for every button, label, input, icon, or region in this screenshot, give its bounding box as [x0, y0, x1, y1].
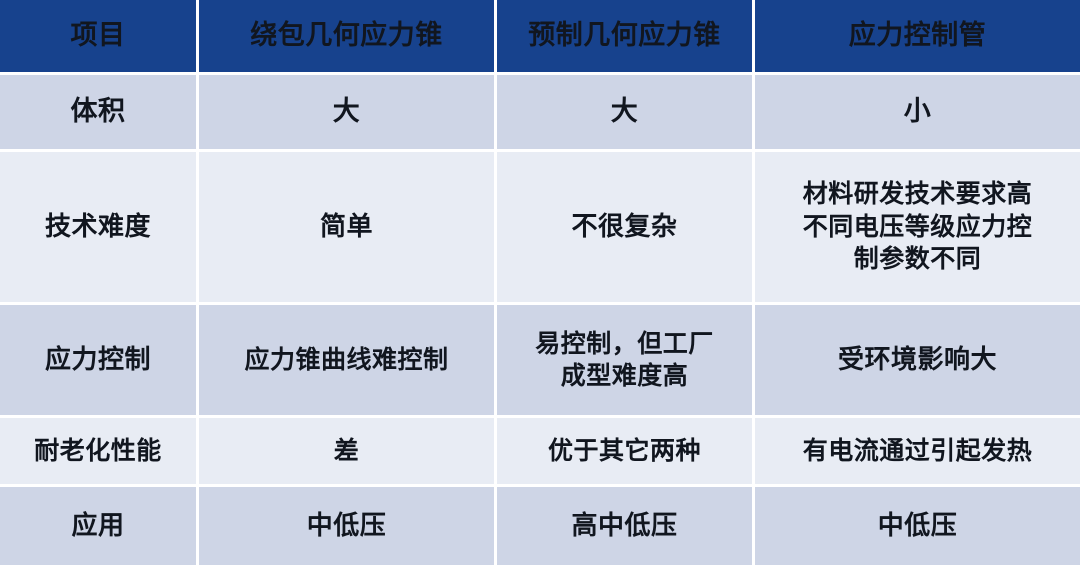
row-label: 耐老化性能 — [0, 418, 199, 487]
table-cell: 小 — [755, 75, 1080, 152]
table-cell: 不很复杂 — [497, 152, 755, 305]
row-label: 技术难度 — [0, 152, 199, 305]
table-cell-line: 易控制，但工厂 — [503, 328, 746, 361]
table-cell: 优于其它两种 — [497, 418, 755, 487]
table-cell: 简单 — [199, 152, 497, 305]
column-header-stress-control-tube: 应力控制管 — [755, 0, 1080, 75]
table-cell-line: 不同电压等级应力控 — [761, 211, 1074, 244]
table-cell-line: 制参数不同 — [761, 243, 1074, 276]
table-cell-line: 成型难度高 — [503, 360, 746, 393]
table-row: 应用 中低压 高中低压 中低压 — [0, 487, 1080, 565]
table-row: 体积 大 大 小 — [0, 75, 1080, 152]
row-label: 应用 — [0, 487, 199, 565]
column-header-item: 项目 — [0, 0, 199, 75]
table-body: 体积 大 大 小 技术难度 简单 不很复杂 材料研发技术要求高 不同电压等级应力… — [0, 75, 1080, 565]
stress-control-comparison-table: 项目 绕包几何应力锥 预制几何应力锥 应力控制管 体积 大 大 小 技术难度 简… — [0, 0, 1080, 565]
table-row: 应力控制 应力锥曲线难控制 易控制，但工厂 成型难度高 受环境影响大 — [0, 305, 1080, 418]
table-cell: 材料研发技术要求高 不同电压等级应力控 制参数不同 — [755, 152, 1080, 305]
table-cell: 差 — [199, 418, 497, 487]
row-label: 体积 — [0, 75, 199, 152]
column-header-wrapped-stress-cone: 绕包几何应力锥 — [199, 0, 497, 75]
table-cell: 易控制，但工厂 成型难度高 — [497, 305, 755, 418]
table-cell: 高中低压 — [497, 487, 755, 565]
table-header: 项目 绕包几何应力锥 预制几何应力锥 应力控制管 — [0, 0, 1080, 75]
table-cell-line: 材料研发技术要求高 — [761, 178, 1074, 211]
row-label: 应力控制 — [0, 305, 199, 418]
table-cell: 中低压 — [755, 487, 1080, 565]
table-cell: 大 — [497, 75, 755, 152]
table-cell: 中低压 — [199, 487, 497, 565]
table-row: 耐老化性能 差 优于其它两种 有电流通过引起发热 — [0, 418, 1080, 487]
table-cell: 大 — [199, 75, 497, 152]
table-cell: 受环境影响大 — [755, 305, 1080, 418]
table-cell: 应力锥曲线难控制 — [199, 305, 497, 418]
table-header-row: 项目 绕包几何应力锥 预制几何应力锥 应力控制管 — [0, 0, 1080, 75]
table-row: 技术难度 简单 不很复杂 材料研发技术要求高 不同电压等级应力控 制参数不同 — [0, 152, 1080, 305]
table-cell: 有电流通过引起发热 — [755, 418, 1080, 487]
column-header-premolded-stress-cone: 预制几何应力锥 — [497, 0, 755, 75]
